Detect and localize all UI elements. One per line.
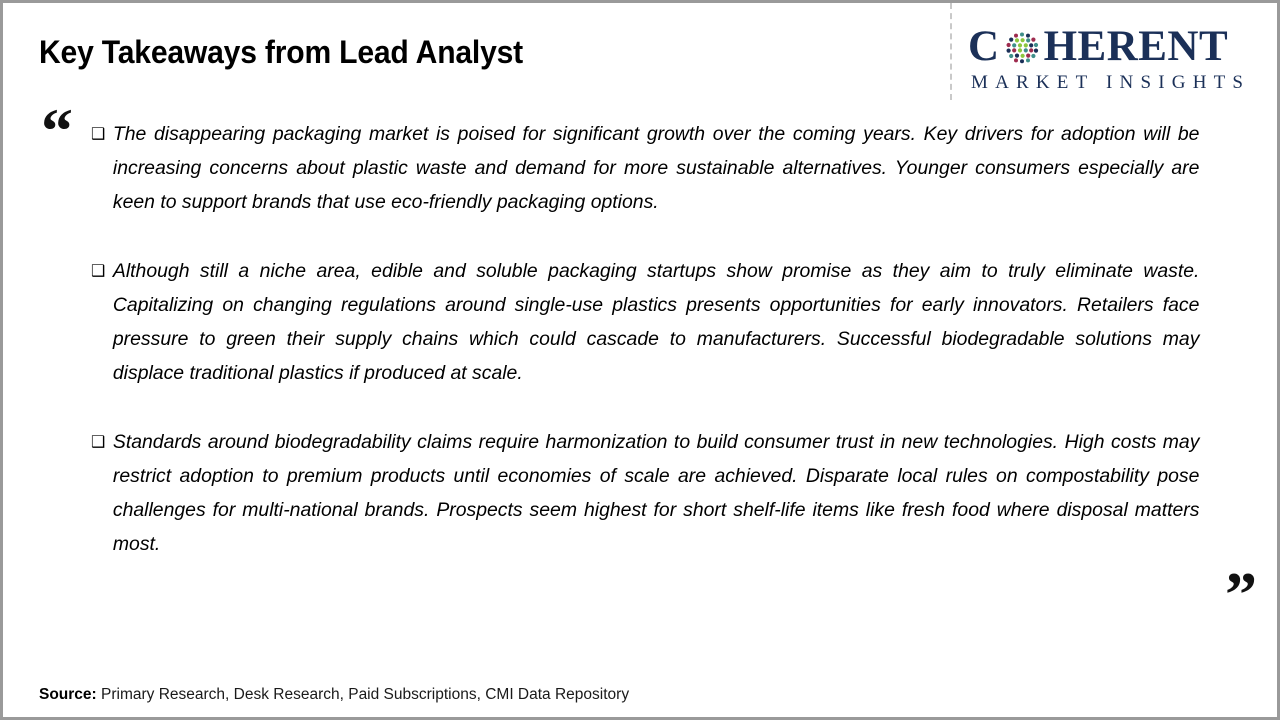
slide-header: Key Takeaways from Lead Analyst C (3, 3, 1280, 103)
logo-wordmark: C (968, 25, 1268, 69)
bullet-square-icon: ❑ (91, 117, 105, 151)
slide: Key Takeaways from Lead Analyst C (0, 0, 1280, 720)
dotted-sphere-icon (1002, 28, 1042, 68)
takeaway-text-1: The disappearing packaging market is poi… (113, 123, 1200, 213)
source-label: Source: (39, 686, 101, 703)
takeaway-text-2: Although still a niche area, edible and … (113, 260, 1200, 384)
opening-quote-icon: “ (41, 99, 71, 163)
logo-subtitle: MARKET INSIGHTS (971, 72, 1268, 94)
takeaway-item-1: ❑ The disappearing packaging market is p… (91, 117, 1199, 219)
page-title: Key Takeaways from Lead Analyst (39, 34, 523, 71)
bullet-square-icon: ❑ (91, 425, 105, 459)
logo-letter-c: C (968, 25, 1000, 69)
source-value: Primary Research, Desk Research, Paid Su… (101, 686, 629, 703)
header-divider (950, 3, 952, 100)
takeaways-list: ❑ The disappearing packaging market is p… (91, 117, 1205, 561)
takeaway-item-3: ❑ Standards around biodegradability clai… (91, 425, 1199, 561)
bullet-square-icon: ❑ (91, 254, 105, 288)
takeaway-item-2: ❑ Although still a niche area, edible an… (91, 254, 1199, 390)
closing-quote-icon: ” (1225, 563, 1255, 627)
logo-wordmark-rest: HERENT (1044, 25, 1229, 69)
source-footer: Source: Primary Research, Desk Research,… (39, 686, 629, 704)
takeaway-text-3: Standards around biodegradability claims… (113, 431, 1200, 555)
coherent-market-insights-logo: C (968, 25, 1268, 97)
